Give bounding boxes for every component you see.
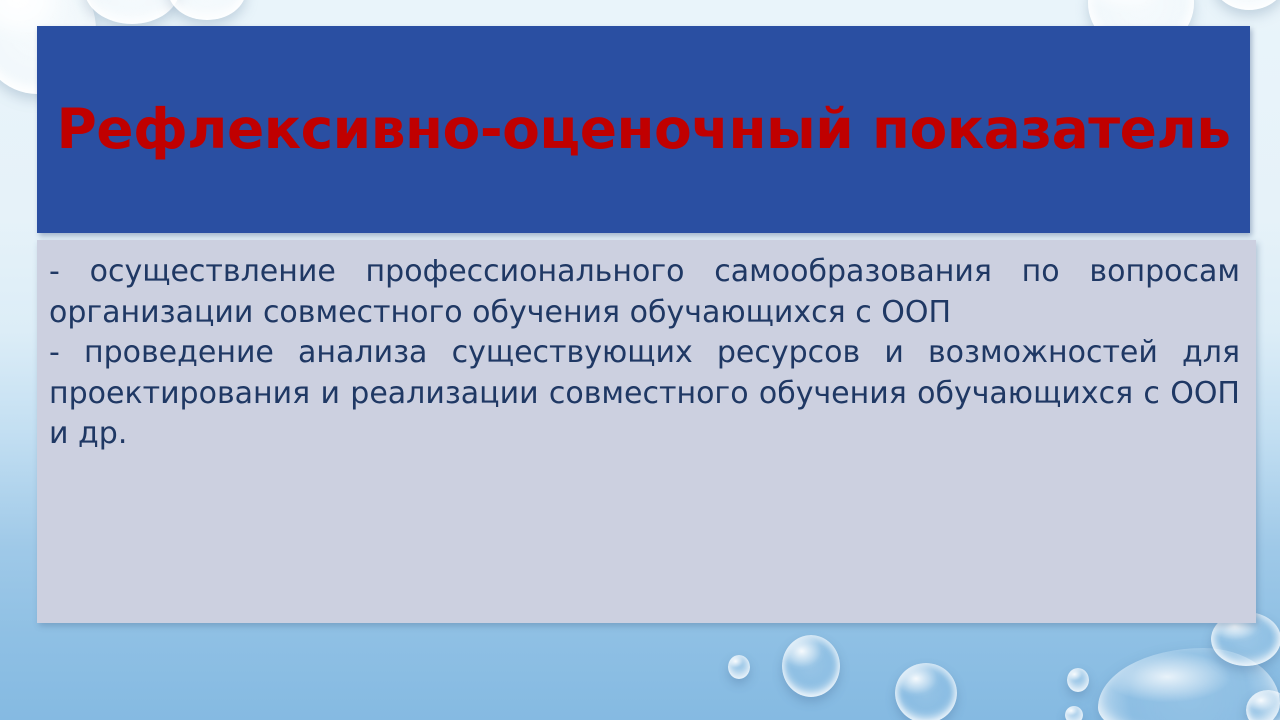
content-paragraph-1: - осуществление профессионального самооб… bbox=[49, 252, 1240, 333]
bubble-icon bbox=[1067, 668, 1089, 692]
presentation-slide: Рефлексивно-оценочный показатель - осуще… bbox=[0, 0, 1280, 720]
bubble-icon bbox=[1098, 648, 1280, 720]
content-paragraph-2: - проведение анализа существующих ресурс… bbox=[49, 333, 1240, 455]
bubble-icon bbox=[84, 0, 180, 24]
slide-title-bar: Рефлексивно-оценочный показатель bbox=[37, 26, 1250, 233]
bubble-icon bbox=[168, 0, 246, 20]
bubble-icon bbox=[1065, 706, 1083, 720]
bubble-icon bbox=[728, 655, 750, 679]
bubble-icon bbox=[1212, 0, 1280, 10]
bubble-icon bbox=[782, 635, 840, 697]
bubble-icon bbox=[895, 663, 957, 720]
bubble-icon bbox=[1246, 690, 1280, 720]
slide-content-box: - осуществление профессионального самооб… bbox=[37, 240, 1256, 623]
page-title: Рефлексивно-оценочный показатель bbox=[46, 101, 1240, 159]
